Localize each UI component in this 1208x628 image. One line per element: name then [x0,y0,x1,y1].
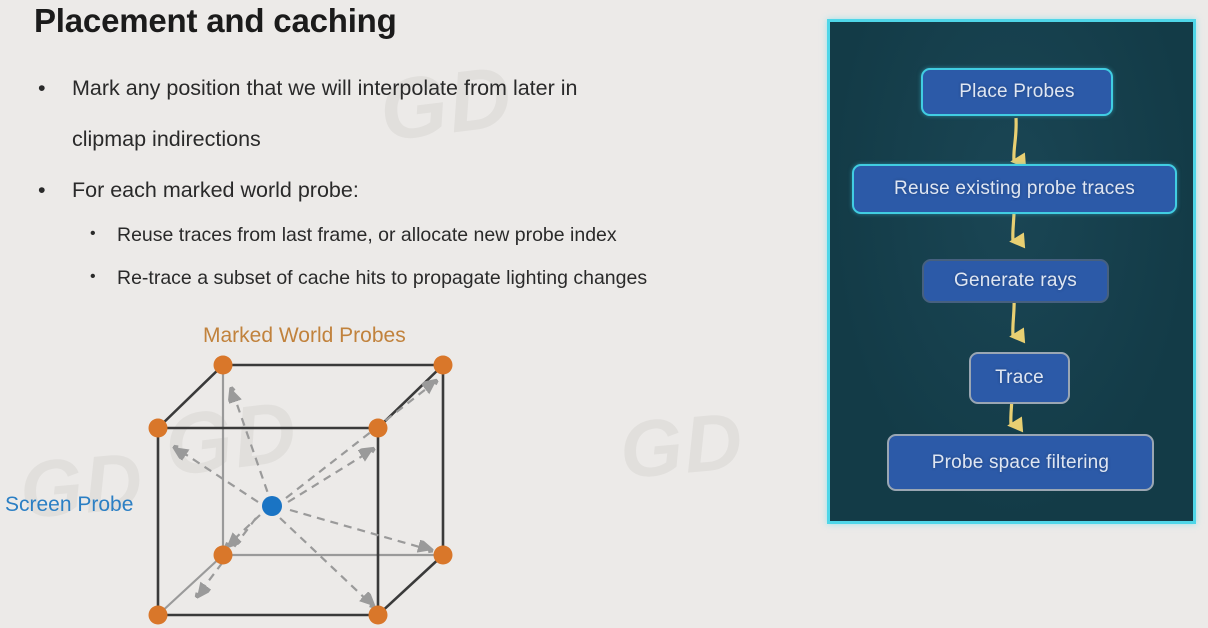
flow-step-label: Generate rays [954,270,1077,292]
flow-step-label: Reuse existing probe traces [894,178,1135,200]
marked-world-probe-dots [149,356,453,625]
flow-step-place-probes[interactable]: Place Probes [921,68,1113,116]
pipeline-flowchart-panel: Place Probes Reuse existing probe traces… [827,19,1196,524]
bullet-item-1: • Mark any position that we will interpo… [38,76,577,101]
slide-title: Placement and caching [34,2,397,40]
flow-step-reuse-existing-probe-traces[interactable]: Reuse existing probe traces [852,164,1177,214]
flow-step-probe-space-filtering[interactable]: Probe space filtering [887,434,1154,491]
bullet-item-2-sub-2: • Re-trace a subset of cache hits to pro… [90,267,647,290]
bullet-item-2: • For each marked world probe: [38,178,359,203]
bullet-marker-icon: • [90,225,96,243]
watermark-text: GD [374,47,518,161]
probe-rays [176,382,435,605]
flow-step-label: Probe space filtering [932,452,1109,474]
screen-probe-dot [262,496,282,516]
presentation-slide: GD GD GD GD Placement and caching • Mark… [0,0,1208,628]
bullet-text: Re-trace a subset of cache hits to propa… [117,267,647,290]
bullet-item-1-continuation: clipmap indirections [72,127,261,152]
bullet-text: Mark any position that we will interpola… [72,76,577,101]
bullet-marker-icon: • [38,178,46,203]
flow-step-generate-rays[interactable]: Generate rays [922,259,1109,303]
marked-world-probes-label: Marked World Probes [203,324,406,348]
flow-step-label: Trace [995,367,1044,389]
cube-diagram [0,310,520,628]
bullet-marker-icon: • [90,268,96,286]
bullet-marker-icon: • [38,76,46,101]
bullet-text: For each marked world probe: [72,178,359,203]
cube-edges [158,365,443,615]
screen-probe-label: Screen Probe [5,493,133,517]
watermark-text: GD [616,395,748,497]
flow-step-label: Place Probes [959,81,1074,103]
bullet-text: Reuse traces from last frame, or allocat… [117,224,617,247]
bullet-item-2-sub-1: • Reuse traces from last frame, or alloc… [90,224,617,247]
flow-step-trace[interactable]: Trace [969,352,1070,404]
cube-hidden-edges [158,365,443,615]
